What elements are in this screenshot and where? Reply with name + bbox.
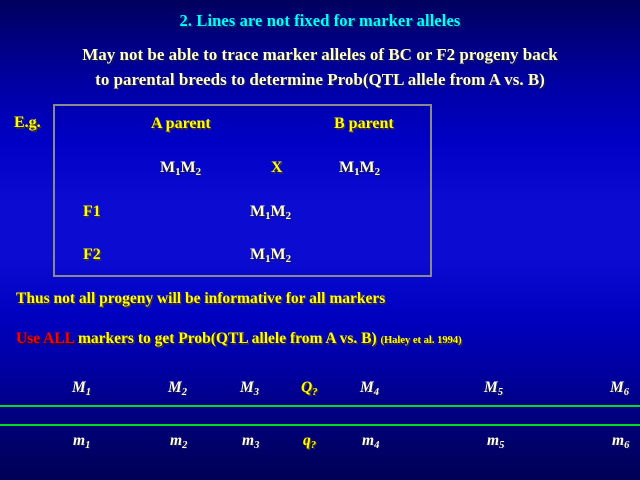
genotype-sub-2: 2 — [375, 166, 380, 178]
marker-symbol: M — [484, 379, 498, 396]
marker-subscript: 4 — [374, 387, 379, 398]
marker-subscript: 6 — [624, 387, 629, 398]
chromosome-diagram: M1M2M3Q?M4M5M6m1m2m3q?m4m5m6 — [0, 370, 640, 480]
parent-b-genotype: M1M2 — [339, 159, 380, 177]
genotype-locus-2: M — [271, 246, 286, 263]
use-all-remainder: markers to get Prob(QTL allele from A vs… — [74, 330, 380, 347]
marker-symbol: M — [72, 379, 86, 396]
marker-symbol: m — [612, 432, 624, 449]
marker-subscript: 5 — [499, 440, 504, 451]
marker-symbol: m — [242, 432, 254, 449]
parent-a-genotype: M1M2 — [160, 159, 201, 177]
slide-subtitle: May not be able to trace marker alleles … — [0, 42, 640, 92]
marker-label-lower-6: m6 — [612, 432, 629, 450]
marker-label-lower-0: m1 — [73, 432, 90, 450]
marker-label-upper-2: M3 — [240, 379, 259, 397]
marker-symbol: m — [362, 432, 374, 449]
f2-genotype: M1M2 — [250, 246, 291, 264]
marker-label-lower-3: q? — [303, 432, 316, 450]
subtitle-line-1: May not be able to trace marker alleles … — [0, 42, 640, 67]
marker-label-upper-3: Q? — [301, 379, 317, 397]
genotype-locus-1: M — [250, 203, 265, 220]
marker-symbol: Q — [301, 379, 312, 396]
marker-symbol: m — [487, 432, 499, 449]
marker-label-lower-4: m4 — [362, 432, 379, 450]
marker-symbol: m — [170, 432, 182, 449]
marker-label-upper-5: M5 — [484, 379, 503, 397]
parent-b-header: B parent — [334, 115, 394, 133]
marker-subscript: 6 — [624, 440, 629, 451]
marker-symbol: M — [610, 379, 624, 396]
genotype-locus-2: M — [181, 159, 196, 176]
genotype-locus-2: M — [271, 203, 286, 220]
subtitle-line-2: to parental breeds to determine Prob(QTL… — [0, 67, 640, 92]
genotype-locus-2: M — [360, 159, 375, 176]
marker-label-upper-0: M1 — [72, 379, 91, 397]
marker-subscript: 2 — [182, 440, 187, 451]
marker-symbol: M — [168, 379, 182, 396]
marker-subscript: 4 — [374, 440, 379, 451]
genotype-locus-1: M — [250, 246, 265, 263]
chromosome-line-lower — [0, 424, 640, 426]
slide-title: 2. Lines are not fixed for marker allele… — [0, 11, 640, 31]
genotype-sub-2: 2 — [286, 253, 291, 265]
marker-label-upper-6: M6 — [610, 379, 629, 397]
conclusion-text: Thus not all progeny will be informative… — [16, 290, 385, 308]
marker-subscript: ? — [312, 387, 317, 398]
marker-subscript: 2 — [182, 387, 187, 398]
marker-label-upper-1: M2 — [168, 379, 187, 397]
genotype-sub-2: 2 — [196, 166, 201, 178]
f1-label: F1 — [83, 203, 101, 221]
marker-subscript: 1 — [86, 387, 91, 398]
cross-symbol: X — [271, 159, 283, 177]
citation-reference: (Haley et al. 1994) — [381, 335, 462, 346]
genotype-sub-2: 2 — [286, 210, 291, 222]
slide-canvas: 2. Lines are not fixed for marker allele… — [0, 0, 640, 480]
f2-label: F2 — [83, 246, 101, 264]
marker-subscript: ? — [311, 440, 316, 451]
marker-label-upper-4: M4 — [360, 379, 379, 397]
marker-subscript: 3 — [254, 387, 259, 398]
genotype-locus-1: M — [339, 159, 354, 176]
example-label: E.g. — [14, 114, 41, 132]
parent-a-header: A parent — [151, 115, 211, 133]
genotype-locus-1: M — [160, 159, 175, 176]
f1-genotype: M1M2 — [250, 203, 291, 221]
marker-label-lower-1: m2 — [170, 432, 187, 450]
chromosome-line-upper — [0, 405, 640, 407]
marker-label-lower-2: m3 — [242, 432, 259, 450]
marker-subscript: 1 — [85, 440, 90, 451]
marker-symbol: M — [240, 379, 254, 396]
marker-symbol: q — [303, 432, 311, 449]
marker-subscript: 3 — [254, 440, 259, 451]
use-all-emphasis: Use ALL — [16, 330, 74, 347]
marker-subscript: 5 — [498, 387, 503, 398]
use-all-markers-text: Use ALL markers to get Prob(QTL allele f… — [16, 330, 462, 348]
marker-label-lower-5: m5 — [487, 432, 504, 450]
marker-symbol: m — [73, 432, 85, 449]
marker-symbol: M — [360, 379, 374, 396]
